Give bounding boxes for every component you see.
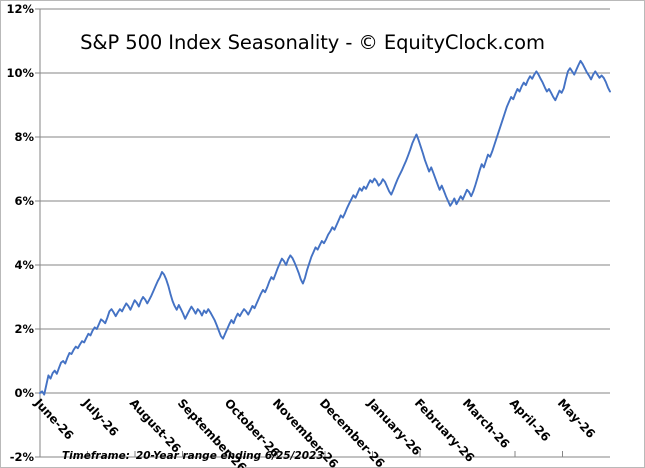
gridlines	[40, 9, 610, 393]
y-tick-label: 0%	[0, 386, 34, 400]
timeframe-label: Timeframe:	[62, 450, 130, 462]
y-tick-label: -2%	[0, 450, 34, 464]
y-tick-marks	[35, 9, 40, 457]
axis-lines	[40, 9, 610, 457]
y-tick-label: 4%	[0, 258, 34, 272]
timeframe-note: Timeframe:20-Year range ending 6/25/2023	[62, 450, 324, 462]
seasonality-chart: S&P 500 Index Seasonality - © EquityCloc…	[0, 0, 645, 468]
y-tick-label: 10%	[0, 66, 34, 80]
y-tick-label: 2%	[0, 322, 34, 336]
y-tick-label: 6%	[0, 194, 34, 208]
timeframe-value: 20-Year range ending 6/25/2023	[136, 450, 324, 462]
plot-area	[0, 0, 645, 468]
series-line-sp500	[40, 61, 610, 395]
y-tick-label: 12%	[0, 2, 34, 16]
y-tick-label: 8%	[0, 130, 34, 144]
